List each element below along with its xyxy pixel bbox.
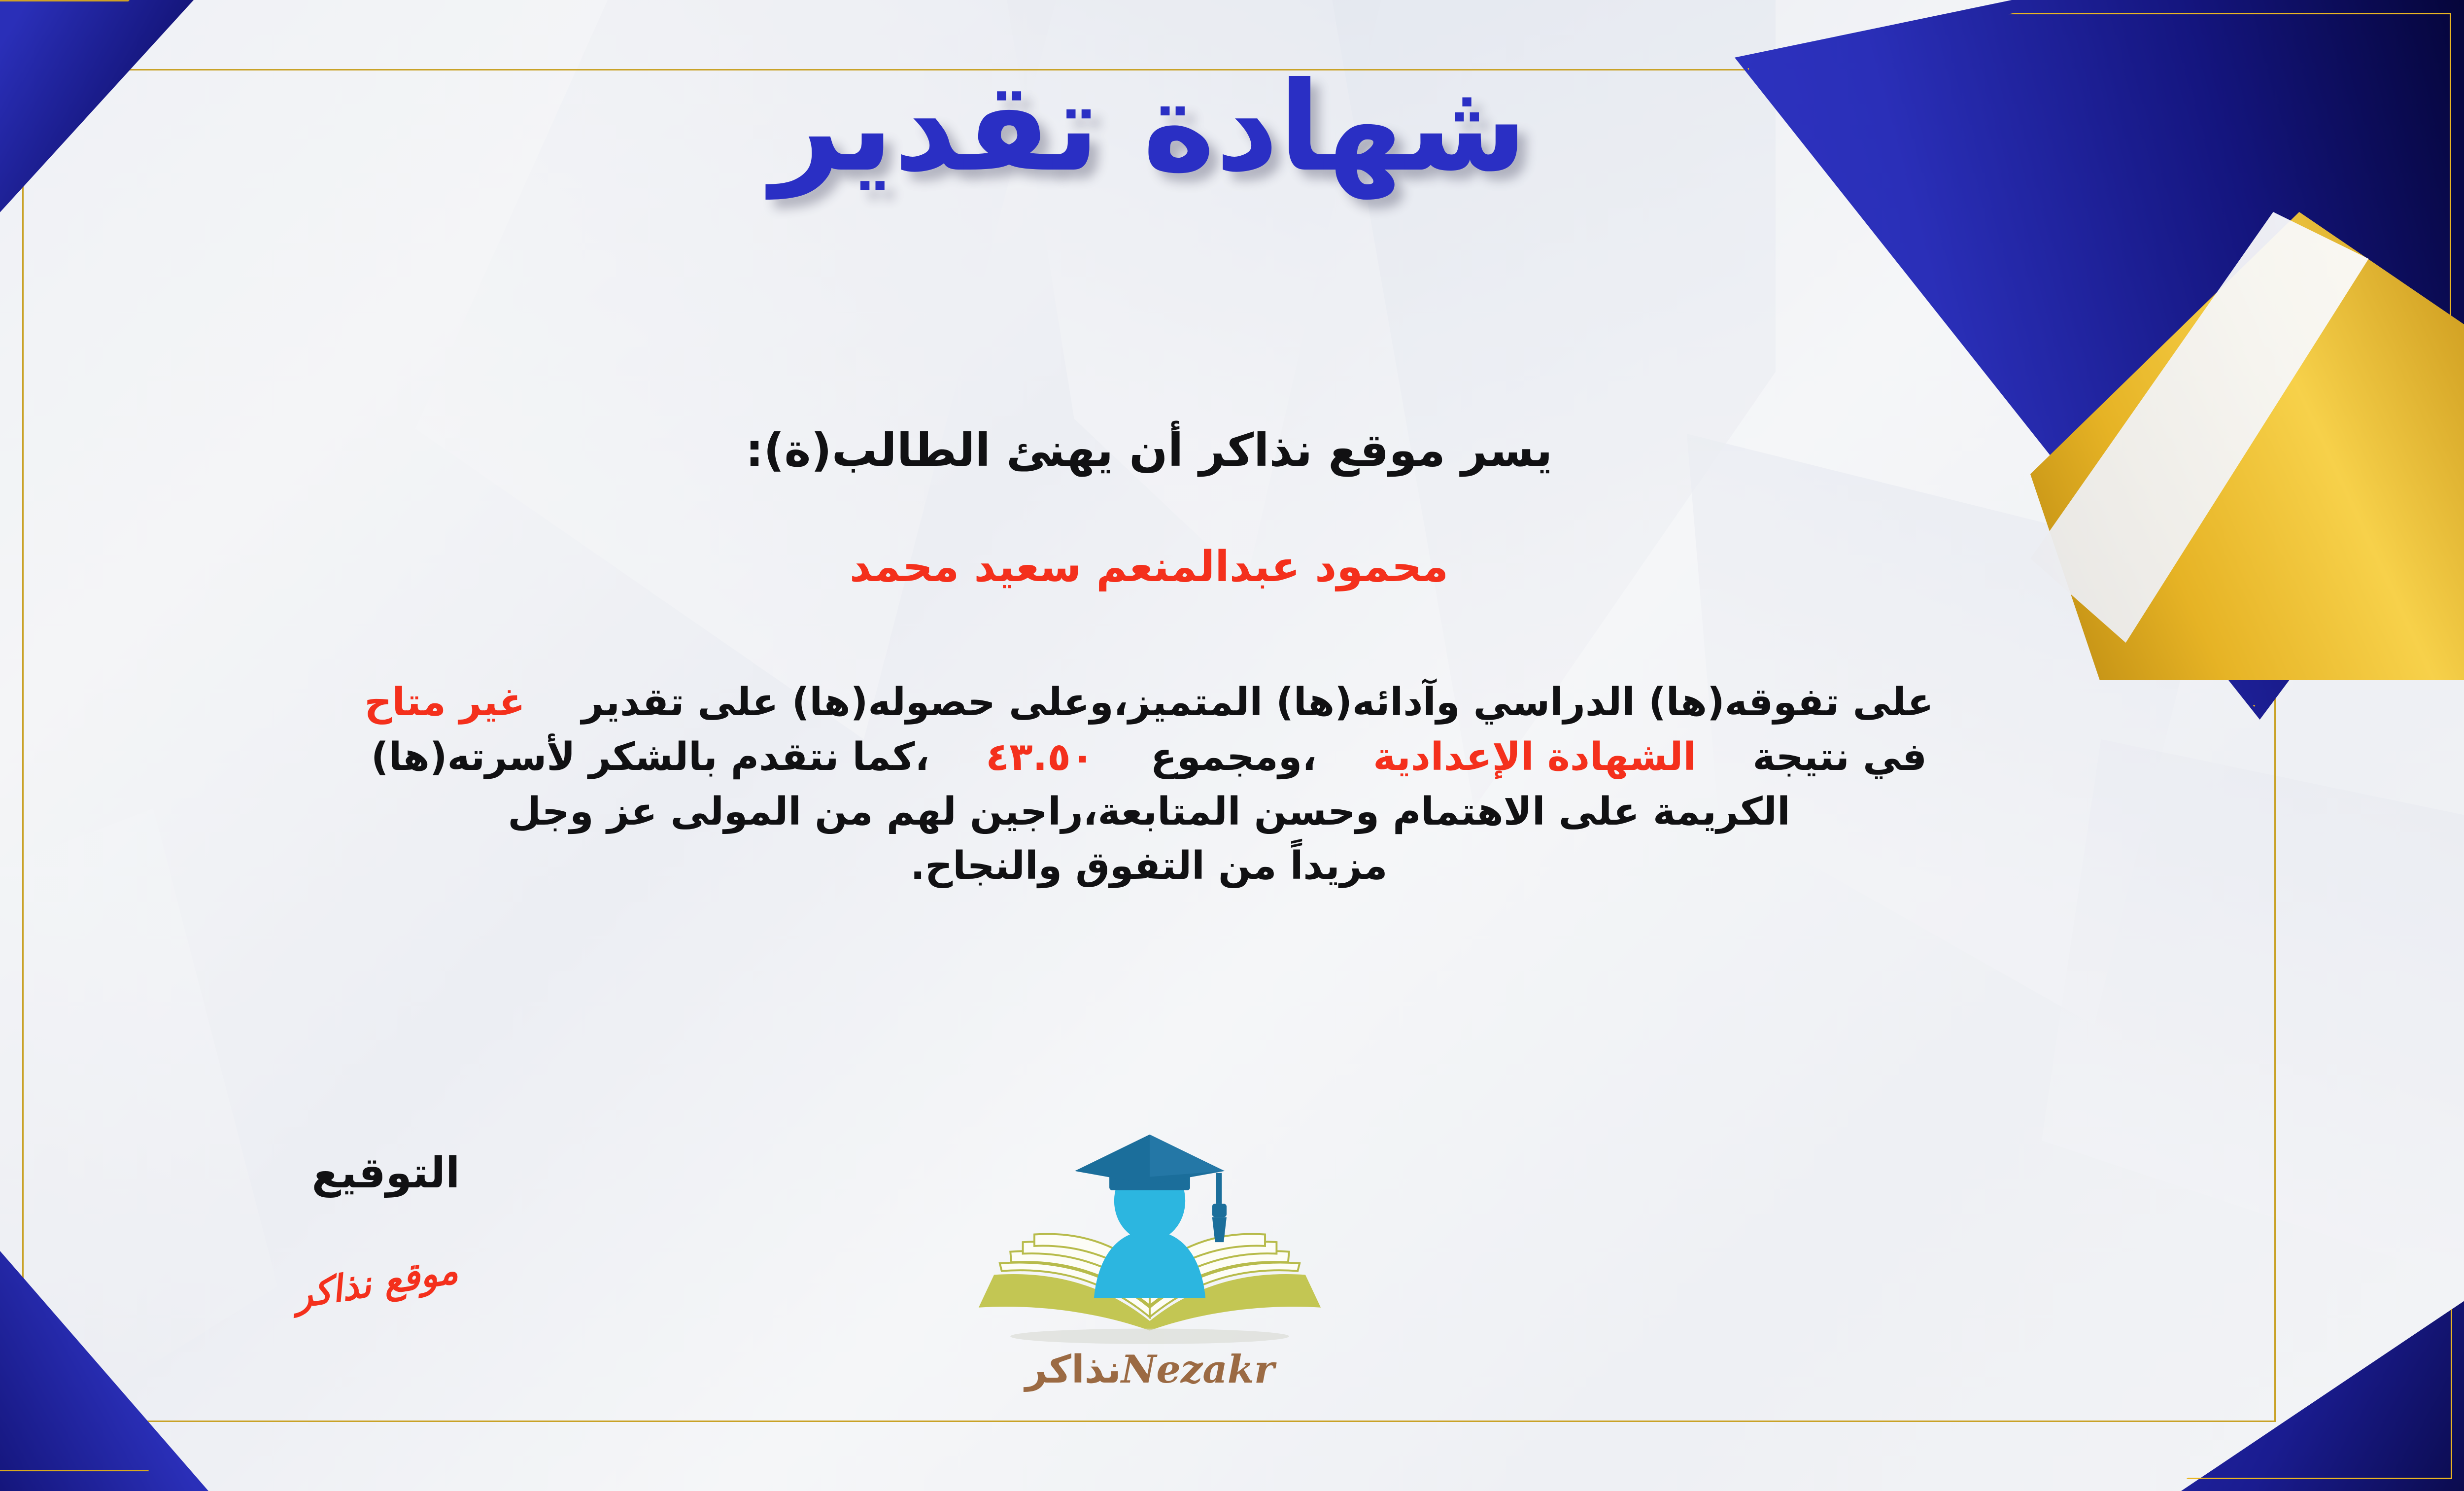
nezakr-logo: Nezakrنذاكر (958, 1129, 1342, 1405)
certificate-stage: الشهادة الإعدادية (1373, 735, 1696, 779)
page-title: شهادة تقدير (0, 59, 2464, 195)
student-name: محمود عبدالمنعم سعيد محمد (0, 542, 2464, 591)
logo-latin-text: Nezakr (1121, 1347, 1274, 1392)
signature-label: التوقيع (248, 1148, 524, 1198)
logo-wordmark: Nezakrنذاكر (958, 1347, 1342, 1392)
body-line-2-prefix: في نتيجة (1752, 735, 1927, 779)
certificate-body: على تفوقه(ها) الدراسي وآدائه(ها) المتميز… (0, 675, 2301, 894)
greeting-text: يسر موقع نذاكر أن يهنئ الطالب(ة): (0, 424, 2464, 477)
body-line-2-suffix: ،كما نتقدم بالشكر لأسرته(ها) (371, 735, 929, 779)
body-line-2-mid: ،ومجموع (1151, 735, 1317, 779)
signature-mark: موقع نذاكر (222, 1238, 530, 1328)
body-line-3: الكريمة على الاهتمام وحسن المتابعة،راجين… (0, 785, 2301, 839)
total-score: ٤٣.٥٠ (986, 735, 1094, 779)
certificate-canvas: شهادة تقدير يسر موقع نذاكر أن يهنئ الطال… (0, 0, 2464, 1491)
body-line-1: على تفوقه(ها) الدراسي وآدائه(ها) المتميز… (0, 675, 2301, 730)
body-line-1-text: على تفوقه(ها) الدراسي وآدائه(ها) المتميز… (582, 680, 1934, 725)
logo-arabic-text: نذاكر (1025, 1348, 1121, 1392)
graduate-book-icon (958, 1129, 1342, 1350)
body-line-4: مزيداً من التفوق والنجاح. (0, 839, 2301, 894)
body-line-2: في نتيجة الشهادة الإعدادية ،ومجموع ٤٣.٥٠… (0, 730, 2301, 785)
grade-value: غير متاح (364, 680, 525, 725)
